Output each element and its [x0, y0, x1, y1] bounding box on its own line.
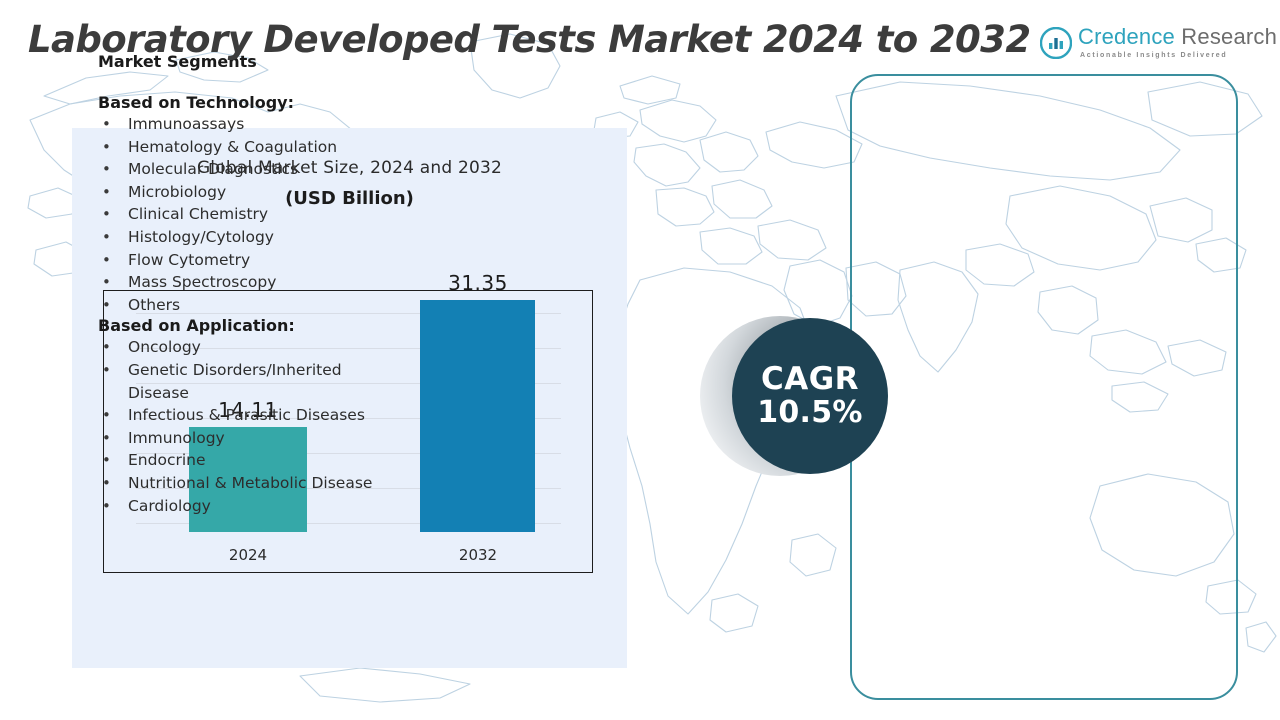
market-segments-panel: [850, 74, 1238, 700]
list-item: •Oncology: [98, 336, 388, 359]
segment-item-label: Mass Spectroscopy: [128, 273, 276, 291]
bullet-icon: •: [102, 226, 111, 249]
list-item: •Cardiology: [98, 495, 388, 518]
bar-category-2032: 2032: [404, 546, 552, 564]
infographic-page: Laboratory Developed Tests Market 2024 t…: [0, 0, 1280, 720]
bullet-icon: •: [102, 427, 111, 450]
bar-category-2024: 2024: [174, 546, 322, 564]
logo-word-research: Research: [1175, 24, 1277, 49]
segment-item-label: Flow Cytometry: [128, 251, 250, 269]
list-item: •Mass Spectroscopy: [98, 271, 388, 294]
bullet-icon: •: [102, 449, 111, 472]
bullet-icon: •: [102, 158, 111, 181]
logo-wordmark: Credence Research: [1078, 24, 1277, 50]
list-item: •Clinical Chemistry: [98, 203, 388, 226]
list-item: •Immunoassays: [98, 113, 388, 136]
bar-value-2032: 31.35: [404, 271, 552, 295]
segment-item-label: Immunology: [128, 429, 225, 447]
segment-item-label: Genetic Disorders/Inherited Disease: [128, 361, 342, 402]
logo-word-credence: Credence: [1078, 24, 1175, 49]
bullet-icon: •: [102, 113, 111, 136]
bullet-icon: •: [102, 249, 111, 272]
cagr-label: CAGR: [761, 363, 859, 396]
list-item: •Molecular Diagnostics: [98, 158, 388, 181]
list-item: •Microbiology: [98, 181, 388, 204]
list-item: •Immunology: [98, 427, 388, 450]
segment-group-heading-application: Based on Application:: [98, 316, 388, 335]
list-item: •Genetic Disorders/Inherited Disease: [98, 359, 388, 404]
segment-item-label: Others: [128, 296, 180, 314]
bullet-icon: •: [102, 359, 111, 382]
cagr-value: 10.5%: [757, 396, 863, 429]
market-segments-content: Market Segments Based on Technology: •Im…: [98, 52, 388, 517]
header: Laboratory Developed Tests Market 2024 t…: [0, 0, 1280, 80]
bullet-icon: •: [102, 181, 111, 204]
bullet-icon: •: [102, 136, 111, 159]
cagr-circle: CAGR 10.5%: [732, 318, 888, 474]
list-item: •Flow Cytometry: [98, 249, 388, 272]
segment-item-label: Molecular Diagnostics: [128, 160, 298, 178]
bullet-icon: •: [102, 203, 111, 226]
bullet-icon: •: [102, 271, 111, 294]
segment-item-label: Immunoassays: [128, 115, 244, 133]
bullet-icon: •: [102, 404, 111, 427]
list-item: •Endocrine: [98, 449, 388, 472]
list-item: •Infectious & Parasitic Diseases: [98, 404, 388, 427]
segment-group-heading-technology: Based on Technology:: [98, 93, 388, 112]
bar-2032: [420, 300, 535, 532]
segment-list-application: •Oncology •Genetic Disorders/Inherited D…: [98, 336, 388, 517]
segment-item-label: Endocrine: [128, 451, 206, 469]
list-item: •Nutritional & Metabolic Disease: [98, 472, 388, 495]
logo-tagline: Actionable Insights Delivered: [1080, 52, 1227, 59]
segment-list-technology: •Immunoassays •Hematology & Coagulation …: [98, 113, 388, 316]
bullet-icon: •: [102, 495, 111, 518]
segment-item-label: Oncology: [128, 338, 201, 356]
segment-item-label: Histology/Cytology: [128, 228, 274, 246]
bar-chart-circle-icon: [1040, 27, 1072, 59]
bullet-icon: •: [102, 294, 111, 317]
segment-item-label: Cardiology: [128, 497, 211, 515]
segment-item-label: Nutritional & Metabolic Disease: [128, 474, 372, 492]
bullet-icon: •: [102, 336, 111, 359]
list-item: •Hematology & Coagulation: [98, 136, 388, 159]
list-item: •Histology/Cytology: [98, 226, 388, 249]
segment-item-label: Microbiology: [128, 183, 226, 201]
bullet-icon: •: [102, 472, 111, 495]
segment-item-label: Clinical Chemistry: [128, 205, 268, 223]
segment-item-label: Infectious & Parasitic Diseases: [128, 406, 365, 424]
segment-item-label: Hematology & Coagulation: [128, 138, 337, 156]
list-item: •Others: [98, 294, 388, 317]
page-title: Laboratory Developed Tests Market 2024 t…: [28, 18, 1030, 61]
cagr-badge: CAGR 10.5%: [700, 312, 900, 487]
brand-logo: Credence Research Actionable Insights De…: [1040, 24, 1252, 68]
